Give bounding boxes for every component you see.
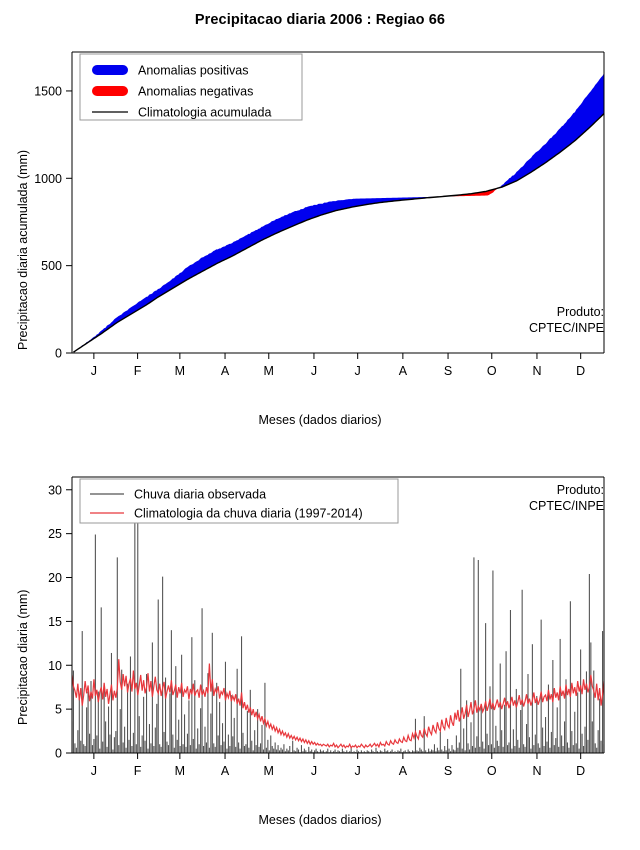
bottom-chart-y-tick: 30 <box>48 483 62 497</box>
bottom-chart-x-tick: M <box>175 764 185 778</box>
produto-line-1: Produto: <box>529 483 604 499</box>
top-chart-x-tick: F <box>134 364 142 378</box>
daily-precipitation-chart: Precipitacao diaria (mm) Meses (dados di… <box>0 455 640 850</box>
bottom-chart-x-tick: J <box>355 764 361 778</box>
top-chart-x-tick: N <box>532 364 541 378</box>
top-chart-y-tick: 1000 <box>34 172 62 186</box>
bottom-chart-x-tick: A <box>221 764 230 778</box>
bottom-chart-x-tick: D <box>576 764 585 778</box>
top-chart-x-tick: J <box>91 364 97 378</box>
top-chart-legend-label: Anomalias positivas <box>138 64 248 78</box>
bottom-chart-y-tick: 20 <box>48 571 62 585</box>
bottom-chart-y-tick: 5 <box>55 703 62 717</box>
top-chart-legend-label: Climatologia acumulada <box>138 106 271 120</box>
top-chart-x-tick: J <box>311 364 317 378</box>
top-chart-x-tick: J <box>355 364 361 378</box>
bottom-chart-legend-label: Climatologia da chuva diaria (1997-2014) <box>134 507 363 521</box>
top-chart-y-axis-label: Precipitacao diaria acumulada (mm) <box>16 150 30 350</box>
bottom-chart-x-tick: S <box>444 764 452 778</box>
top-chart-produto-annotation: Produto: CPTEC/INPE <box>529 305 604 336</box>
top-chart-y-tick: 0 <box>55 347 62 361</box>
top-chart-x-axis-label: Meses (dados diarios) <box>0 413 640 427</box>
legend-swatch-1 <box>92 86 128 96</box>
bottom-chart-y-tick: 15 <box>48 615 62 629</box>
climatology-line <box>72 659 604 748</box>
bottom-chart-x-tick: M <box>264 764 274 778</box>
bottom-chart-x-tick: F <box>134 764 142 778</box>
figure-page: Precipitacao diaria 2006 : Regiao 66 Pre… <box>0 0 640 850</box>
bottom-chart-y-tick: 0 <box>55 747 62 761</box>
bottom-chart-x-tick: O <box>487 764 497 778</box>
produto-line-2: CPTEC/INPE <box>529 321 604 337</box>
top-chart-x-tick: O <box>487 364 497 378</box>
produto-line-2: CPTEC/INPE <box>529 499 604 515</box>
top-chart-x-tick: A <box>221 364 230 378</box>
bottom-chart-x-tick: J <box>91 764 97 778</box>
bottom-chart-x-tick: N <box>532 764 541 778</box>
bottom-chart-y-tick: 10 <box>48 659 62 673</box>
top-chart-y-tick: 500 <box>41 259 62 273</box>
bottom-chart-x-tick: J <box>311 764 317 778</box>
bottom-chart-x-axis-label: Meses (dados diarios) <box>0 813 640 827</box>
bottom-chart-x-tick: A <box>399 764 408 778</box>
top-chart-x-tick: A <box>399 364 408 378</box>
bottom-chart-y-axis-label: Precipitacao diaria (mm) <box>16 590 30 725</box>
page-title: Precipitacao diaria 2006 : Regiao 66 <box>0 12 640 28</box>
top-chart-x-tick: D <box>576 364 585 378</box>
bottom-chart-legend-label: Chuva diaria observada <box>134 488 266 502</box>
top-chart-x-tick: S <box>444 364 452 378</box>
top-chart-y-tick: 1500 <box>34 84 62 98</box>
top-chart-legend-label: Anomalias negativas <box>138 85 253 99</box>
top-chart-x-tick: M <box>175 364 185 378</box>
top-chart-x-tick: M <box>264 364 274 378</box>
legend-swatch-0 <box>92 65 128 75</box>
cumulative-precipitation-chart: Precipitacao diaria acumulada (mm) Meses… <box>0 30 640 450</box>
bottom-chart-y-tick: 25 <box>48 527 62 541</box>
produto-line-1: Produto: <box>529 305 604 321</box>
bottom-chart-produto-annotation: Produto: CPTEC/INPE <box>529 483 604 514</box>
